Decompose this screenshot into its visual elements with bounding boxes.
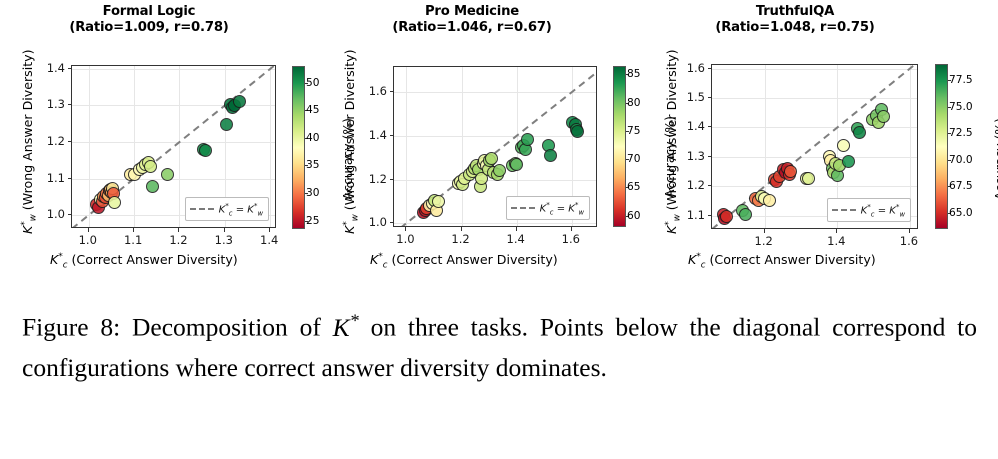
x-tick-label: 1.3 xyxy=(215,233,233,247)
panel-title-stats: (Ratio=1.048, r=0.75) xyxy=(654,20,936,36)
scatter-panel-0: Formal Logic(Ratio=1.009, r=0.78)K*c = K… xyxy=(6,0,336,280)
plot-area: K*c = K*w xyxy=(71,65,276,228)
x-tick-label: 1.6 xyxy=(562,232,580,246)
colorbar-tick-label: 75 xyxy=(627,125,640,137)
scatter-panels-row: Formal Logic(Ratio=1.009, r=0.78)K*c = K… xyxy=(0,0,998,280)
figure-caption: Figure 8: Decomposition of K* on three t… xyxy=(22,300,977,388)
legend-dashed-line-swatch xyxy=(511,207,535,209)
y-tickmark xyxy=(390,135,394,136)
legend: K*c = K*w xyxy=(185,197,269,221)
colorbar-tick-label: 60 xyxy=(627,210,640,222)
colorbar-tick-label: 25 xyxy=(306,215,319,227)
scatter-point xyxy=(108,196,121,209)
x-tick-label: 1.2 xyxy=(451,232,469,246)
panel-title-task: Formal Logic xyxy=(103,4,196,19)
scatter-point xyxy=(544,149,557,162)
x-tickmark xyxy=(405,227,406,231)
y-tickmark xyxy=(68,214,72,215)
x-tick-label: 1.6 xyxy=(900,234,918,248)
legend-dashed-line-swatch xyxy=(832,209,856,211)
x-tickmark xyxy=(461,227,462,231)
x-tickmark xyxy=(571,227,572,231)
y-tickmark xyxy=(68,104,72,105)
colorbar-tick-label: 65.0 xyxy=(949,207,973,219)
y-tickmark xyxy=(708,97,712,98)
caption-label-and-lead: Figure 8: Decomposition of xyxy=(22,313,321,342)
panel-title: Formal Logic(Ratio=1.009, r=0.78) xyxy=(6,4,292,35)
colorbar-tick-label: 30 xyxy=(306,187,319,199)
colorbar-tick-label: 40 xyxy=(306,132,319,144)
panel-title: Pro Medicine(Ratio=1.046, r=0.67) xyxy=(330,4,614,35)
colorbar-tick-label: 50 xyxy=(306,77,319,89)
colorbar-tick-label: 72.5 xyxy=(949,127,973,139)
caption-lead-tail: on three tasks. Points below xyxy=(371,313,678,342)
x-tick-label: 1.2 xyxy=(755,234,773,248)
x-tick-label: 1.4 xyxy=(507,232,525,246)
scatter-point xyxy=(853,126,866,139)
x-tick-label: 1.1 xyxy=(124,233,142,247)
scatter-panel-1: Pro Medicine(Ratio=1.046, r=0.67)K*c = K… xyxy=(330,0,660,280)
y-tickmark xyxy=(708,156,712,157)
caption-line-1: Figure 8: Decomposition of K* on three t… xyxy=(22,313,690,342)
panel-title-stats: (Ratio=1.009, r=0.78) xyxy=(6,20,292,36)
scatter-point xyxy=(493,164,506,177)
panel-title-task: TruthfulQA xyxy=(756,4,834,19)
y-tickmark xyxy=(390,222,394,223)
y-tickmark xyxy=(708,68,712,69)
x-tickmark xyxy=(836,229,837,233)
x-tick-label: 1.4 xyxy=(260,233,278,247)
x-tickmark xyxy=(516,227,517,231)
colorbar-tick-label: 70.0 xyxy=(949,154,973,166)
colorbar xyxy=(935,64,948,229)
x-tick-label: 1.0 xyxy=(396,232,414,246)
scatter-point xyxy=(485,152,498,165)
scatter-point xyxy=(739,208,752,221)
y-tickmark xyxy=(708,215,712,216)
y-tickmark xyxy=(68,141,72,142)
scatter-point xyxy=(784,165,797,178)
scatter-point xyxy=(220,118,233,131)
x-axis-label: K*c (Correct Answer Diversity) xyxy=(370,252,558,271)
x-tickmark xyxy=(269,228,270,232)
y-tickmark xyxy=(68,178,72,179)
x-tickmark xyxy=(764,229,765,233)
panel-title: TruthfulQA(Ratio=1.048, r=0.75) xyxy=(654,4,936,35)
scatter-point xyxy=(146,180,159,193)
colorbar-tick-label: 80 xyxy=(627,97,640,109)
x-tick-label: 1.4 xyxy=(827,234,845,248)
scatter-point xyxy=(842,155,855,168)
y-axis-label: K*w (Wrong Answer Diversity) xyxy=(20,49,39,234)
x-tickmark xyxy=(88,228,89,232)
plot-area: K*c = K*w xyxy=(393,66,597,227)
y-tickmark xyxy=(390,91,394,92)
colorbar-tick-label: 67.5 xyxy=(949,180,973,192)
legend: K*c = K*w xyxy=(506,196,590,220)
x-tickmark xyxy=(224,228,225,232)
figure-8: Formal Logic(Ratio=1.009, r=0.78)K*c = K… xyxy=(0,0,998,459)
y-tickmark xyxy=(68,68,72,69)
caption-line-3: answer diversity dominates. xyxy=(322,353,607,382)
x-tick-label: 1.0 xyxy=(79,233,97,247)
y-tickmark xyxy=(390,179,394,180)
legend-label: K*c = K*w xyxy=(540,200,584,216)
scatter-panel-2: TruthfulQA(Ratio=1.048, r=0.75)K*c = K*w… xyxy=(654,0,998,280)
colorbar-tick-label: 65 xyxy=(627,181,640,193)
x-axis-label: K*c (Correct Answer Diversity) xyxy=(50,252,238,271)
colorbar-tick-label: 75.0 xyxy=(949,101,973,113)
caption-math-kstar: K* xyxy=(333,313,359,342)
colorbar-tick-label: 45 xyxy=(306,104,319,116)
legend-label: K*c = K*w xyxy=(219,201,263,217)
x-tickmark xyxy=(133,228,134,232)
colorbar-tick-label: 77.5 xyxy=(949,74,973,86)
x-tick-label: 1.2 xyxy=(169,233,187,247)
y-axis-label: K*w (Wrong Answer Diversity) xyxy=(342,49,361,234)
panel-title-task: Pro Medicine xyxy=(425,4,519,19)
colorbar-tick-label: 70 xyxy=(627,153,640,165)
x-tickmark xyxy=(178,228,179,232)
colorbar-tick-label: 85 xyxy=(627,68,640,80)
colorbar xyxy=(613,66,626,227)
y-tickmark xyxy=(708,185,712,186)
colorbar-tick-label: 35 xyxy=(306,159,319,171)
y-axis-label: K*w (Wrong Answer Diversity) xyxy=(664,49,683,234)
colorbar-title: Accuracy (%) xyxy=(992,118,998,200)
panel-title-stats: (Ratio=1.046, r=0.67) xyxy=(330,20,614,36)
legend-label: K*c = K*w xyxy=(861,202,905,218)
legend: K*c = K*w xyxy=(827,198,911,222)
scatter-point xyxy=(877,110,890,123)
x-tickmark xyxy=(909,229,910,233)
plot-area: K*c = K*w xyxy=(711,64,918,229)
y-tickmark xyxy=(708,126,712,127)
legend-dashed-line-swatch xyxy=(190,208,214,210)
x-axis-label: K*c (Correct Answer Diversity) xyxy=(688,252,876,271)
colorbar xyxy=(292,66,305,229)
